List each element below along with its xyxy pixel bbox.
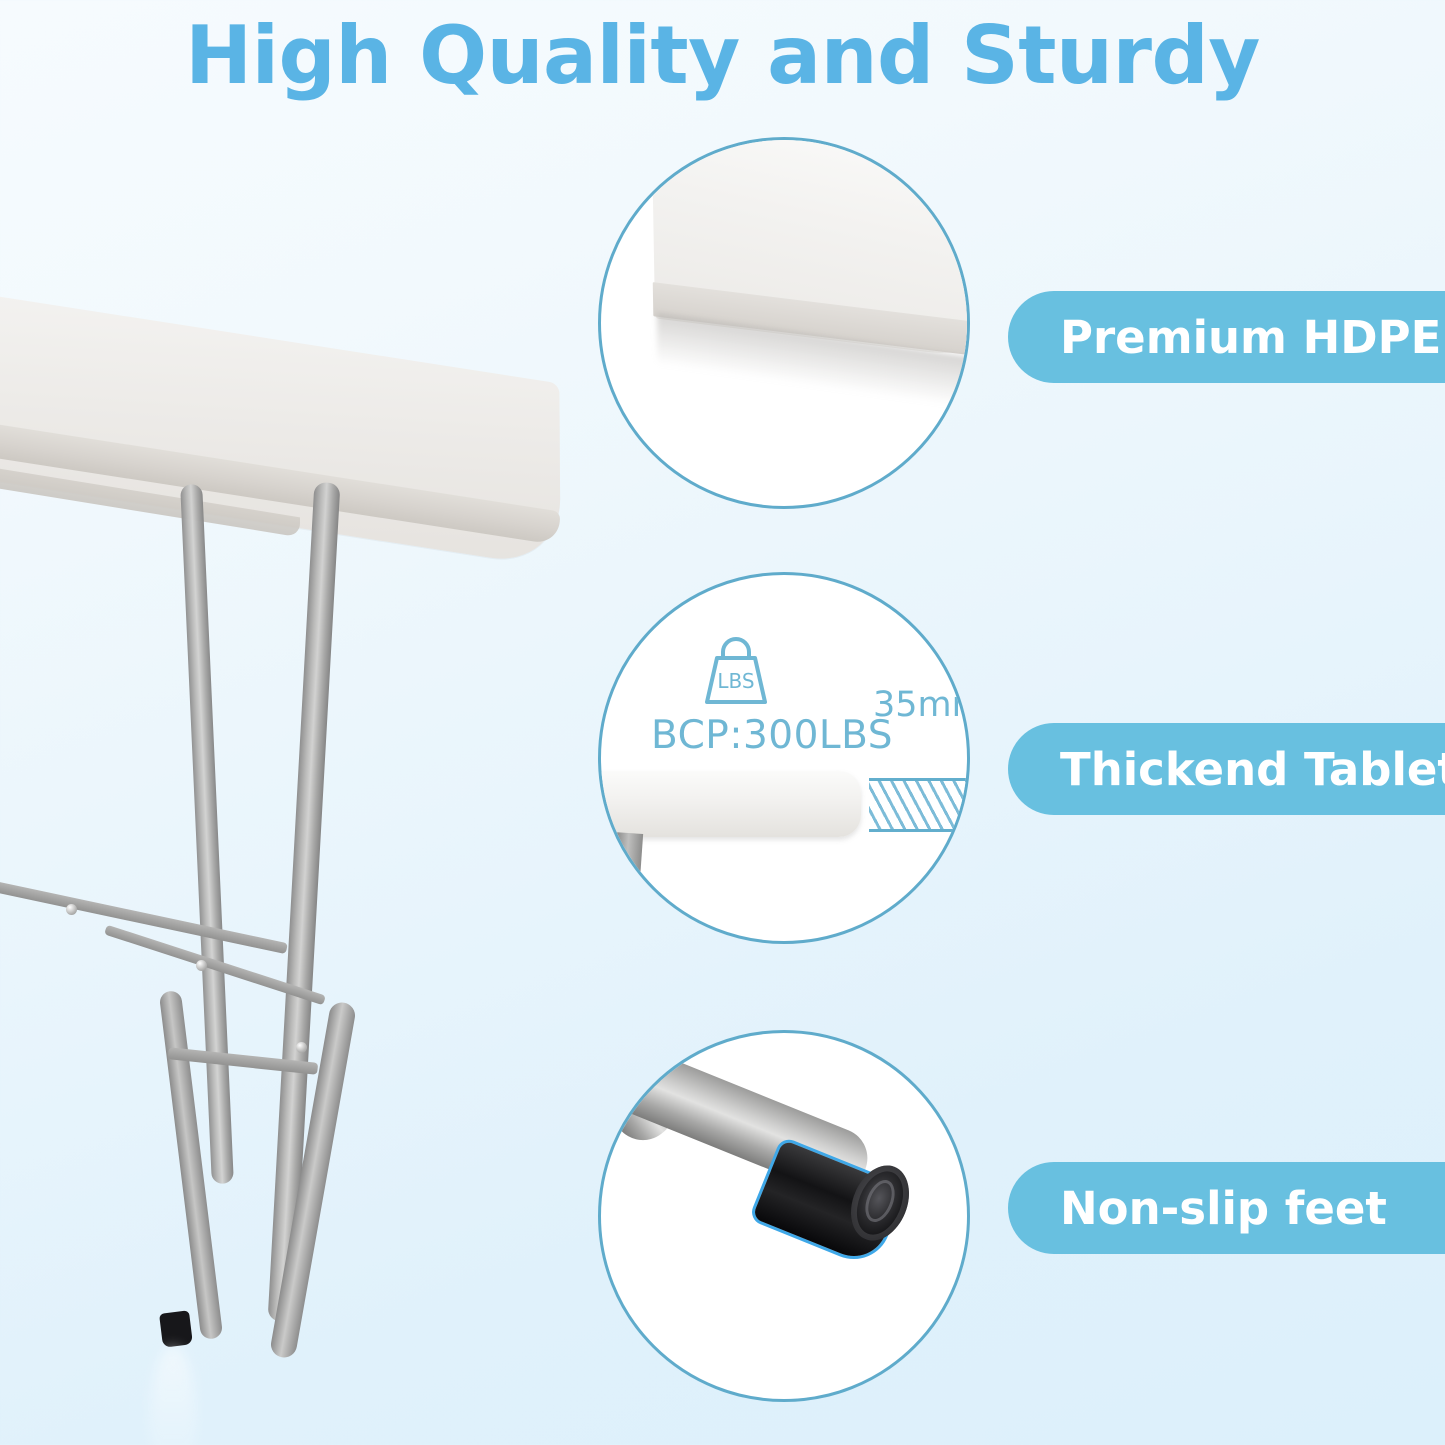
feature-label-non-slip-feet[interactable]: Non-slip feet (1008, 1162, 1445, 1254)
page-title-bar: High Quality and Sturdy (0, 14, 1445, 98)
product-photo-folding-table (0, 300, 600, 1360)
floor-reflection (150, 1346, 196, 1445)
thickness-slab-leg (609, 832, 643, 944)
feature-label-thickend-tabletop[interactable]: Thickend Tabletop (1008, 723, 1445, 815)
thickness-hatch-band (869, 778, 970, 832)
page-title: High Quality and Sturdy (0, 14, 1445, 98)
feature-detail-circle-thickend-tabletop: LBS BCP:300LBS 35mm (598, 572, 970, 944)
brace-rivet (296, 1042, 307, 1053)
feature-detail-circle-premium-hdpe (598, 137, 970, 509)
thickness-text: 35mm (873, 685, 970, 725)
brace-rivet (66, 904, 77, 915)
feature-label-premium-hdpe[interactable]: Premium HDPE (1008, 291, 1445, 383)
thickness-slab (598, 771, 861, 837)
brace-rivet (196, 960, 207, 971)
feature-detail-circle-non-slip-feet (598, 1030, 970, 1402)
feature-label-text: Premium HDPE (1060, 311, 1441, 364)
weight-icon-unit-label: LBS (717, 669, 754, 693)
weight-lbs-icon: LBS (699, 632, 773, 710)
feature-label-text: Thickend Tabletop (1060, 743, 1445, 796)
load-capacity-text: BCP:300LBS (651, 713, 891, 758)
feature-label-text: Non-slip feet (1060, 1182, 1387, 1235)
non-slip-foot-left (159, 1310, 193, 1347)
